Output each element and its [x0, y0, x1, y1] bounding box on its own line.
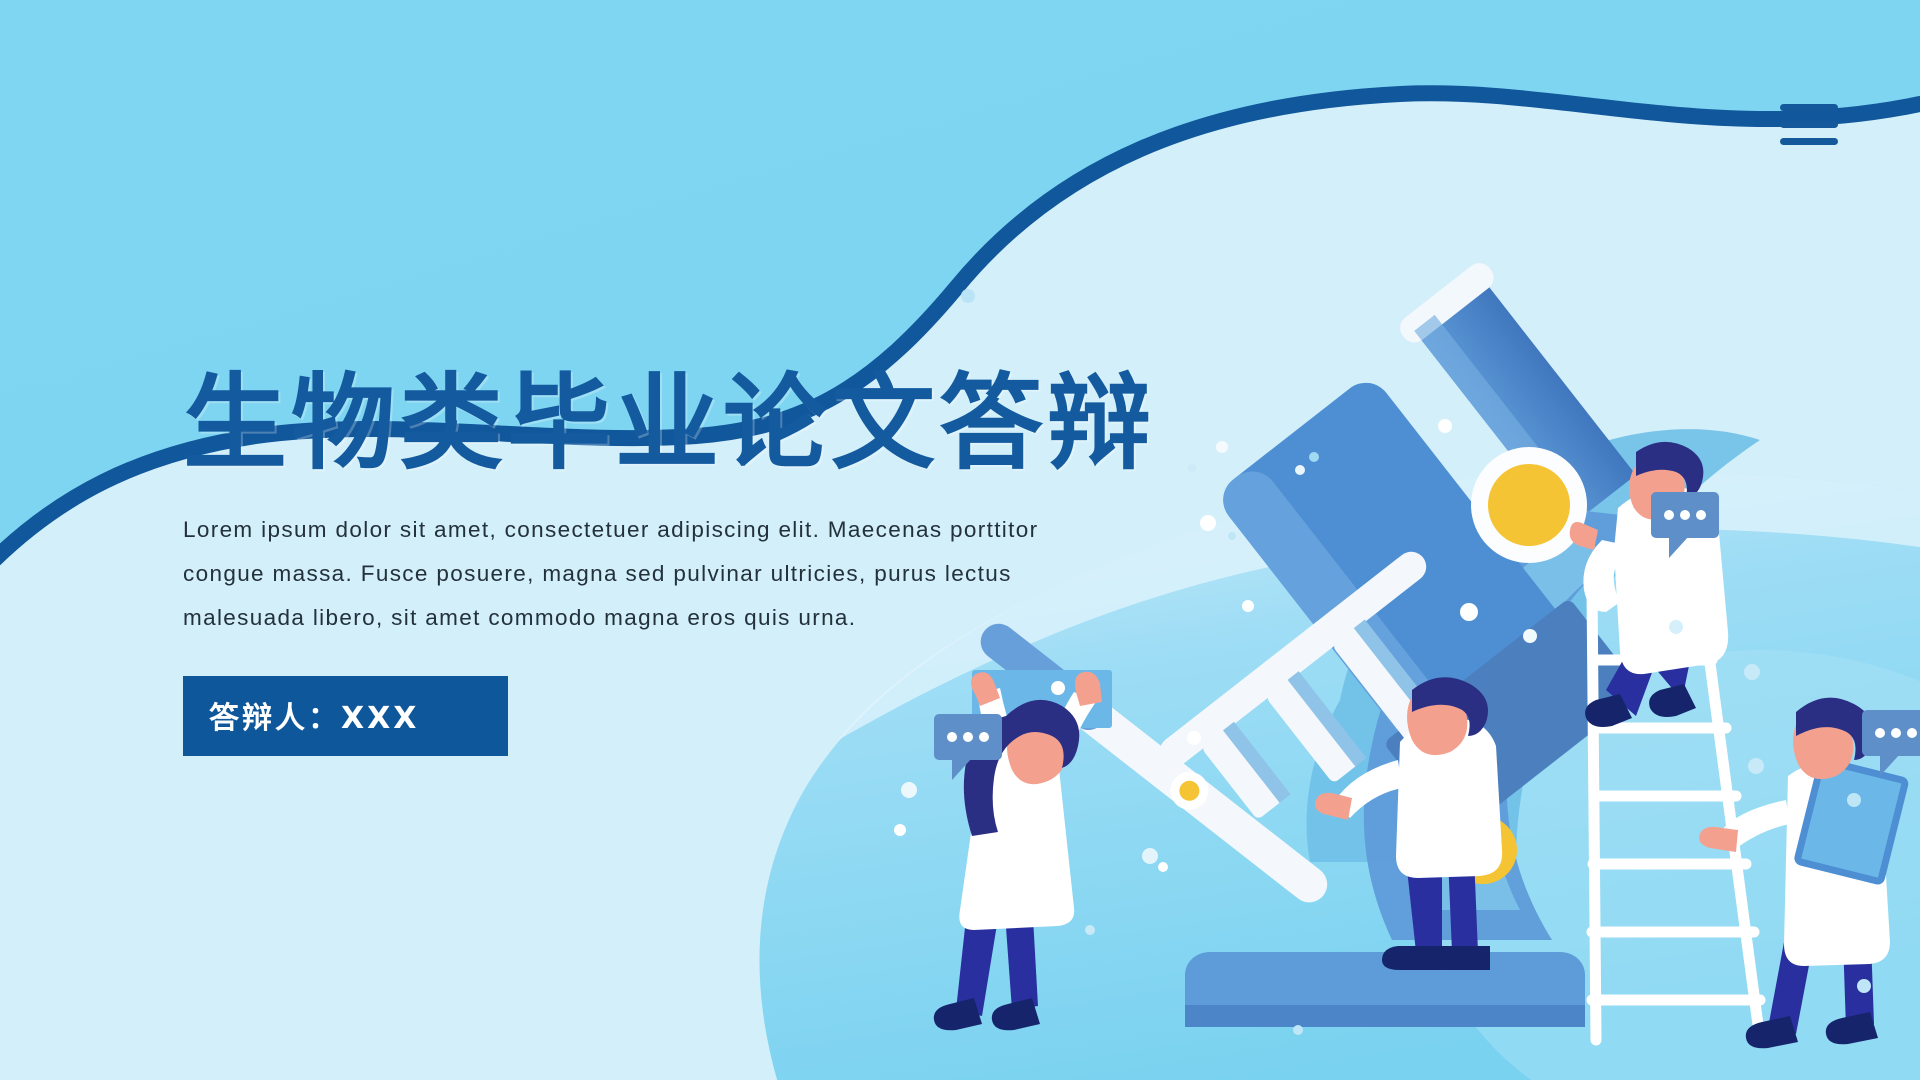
- page-title: 生物类毕业论文答辩: [183, 368, 1143, 478]
- speech-dot: [1891, 728, 1901, 738]
- speech-dot: [1696, 510, 1706, 520]
- pointer-shoe-2: [1428, 946, 1490, 970]
- speech-dot: [1875, 728, 1885, 738]
- slide-text-block: 生物类毕业论文答辩 Lorem ipsum dolor sit amet, co…: [183, 368, 1143, 756]
- speech-dot: [1907, 728, 1917, 738]
- subtitle-paragraph: Lorem ipsum dolor sit amet, consectetuer…: [183, 508, 1113, 640]
- speech-dot: [1664, 510, 1674, 520]
- speech-dot: [1680, 510, 1690, 520]
- menu-bar-bottom: [1780, 138, 1838, 145]
- presenter-badge: 答辩人：XXX: [183, 676, 508, 756]
- microscope-base-shadow: [1185, 1005, 1585, 1027]
- menu-bar-top: [1780, 104, 1838, 111]
- microscope-lens-yellow: [1488, 464, 1570, 546]
- menu-bar-middle: [1780, 121, 1838, 128]
- hamburger-menu-icon[interactable]: [1780, 104, 1838, 146]
- presentation-slide: 生物类毕业论文答辩 Lorem ipsum dolor sit amet, co…: [0, 0, 1920, 1080]
